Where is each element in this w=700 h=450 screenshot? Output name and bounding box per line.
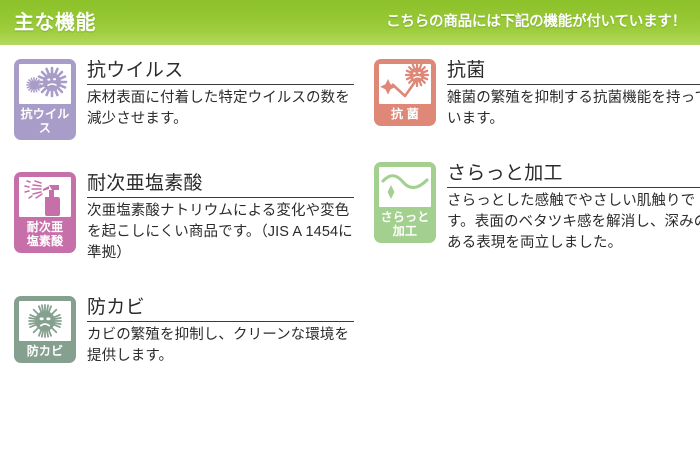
mold-spore-icon	[19, 301, 71, 341]
title-divider	[447, 187, 700, 188]
header-note: こちらの商品には下記の機能が付いています！	[386, 15, 686, 30]
feature-card-smooth-finish: さらっと 加工 さらっと加工 さらっとした感触でやさしい肌触りです。表面のベタツ…	[374, 162, 700, 254]
section-header-bar: 主な機能 こちらの商品には下記の機能が付いています！	[0, 0, 700, 45]
anti-mold-body: カビの繁殖を抑制し、クリーンな環境を提供します。	[87, 325, 354, 367]
antibacterial-body: 雑菌の繁殖を抑制する抗菌機能を持っています。	[447, 88, 700, 130]
title-divider	[87, 197, 354, 198]
features-column-left: 抗ウイルス 抗ウイルス 床材表面に付着した特定ウイルスの数を減少させます。	[14, 45, 354, 367]
feature-card-hypochlorous-acid-resistant: 耐次亜 塩素酸 耐次亜塩素酸 次亜塩素酸ナトリウムによる変化や変色を起こしにくい…	[14, 172, 354, 264]
anti-virus-icon	[19, 64, 71, 104]
anti-virus-icon-label: 抗ウイルス	[19, 104, 71, 136]
hypochlorous-acid-resistant-icon-label: 耐次亜 塩素酸	[27, 217, 64, 249]
smooth-finish-text-block: さらっと加工 さらっとした感触でやさしい肌触りです。表面のベタツキ感を解消し、深…	[436, 162, 700, 254]
smooth-finish-body: さらっとした感触でやさしい肌触りです。表面のベタツキ感を解消し、深みのある表現を…	[447, 191, 700, 254]
anti-virus-body: 床材表面に付着した特定ウイルスの数を減少させます。	[87, 88, 354, 130]
anti-mold-text-block: 防カビ カビの繁殖を抑制し、クリーンな環境を提供します。	[76, 296, 354, 367]
title-divider	[447, 84, 700, 85]
smooth-finish-icon-label: さらっと 加工	[381, 207, 430, 239]
features-column-right: 抗 菌 抗菌 雑菌の繁殖を抑制する抗菌機能を持っています。	[374, 45, 700, 254]
anti-mold-title: 防カビ	[87, 296, 354, 321]
title-divider	[87, 84, 354, 85]
feature-card-anti-virus: 抗ウイルス 抗ウイルス 床材表面に付着した特定ウイルスの数を減少させます。	[14, 59, 354, 140]
antibacterial-icon-block: 抗 菌	[374, 59, 436, 126]
feature-panel: 主な機能 こちらの商品には下記の機能が付いています！	[0, 0, 700, 450]
page-title: 主な機能	[14, 13, 96, 33]
anti-mold-icon-block: 防カビ	[14, 296, 76, 363]
hypochlorous-acid-resistant-body: 次亜塩素酸ナトリウムによる変化や変色を起こしにくい商品です。（JIS A 145…	[87, 201, 354, 264]
antibacterial-icon-label: 抗 菌	[391, 104, 419, 122]
hypochlorous-acid-resistant-title: 耐次亜塩素酸	[87, 172, 354, 197]
feature-card-anti-mold: 防カビ 防カビ カビの繁殖を抑制し、クリーンな環境を提供します。	[14, 296, 354, 367]
hypochlorous-acid-resistant-icon-block: 耐次亜 塩素酸	[14, 172, 76, 253]
features-content: 抗ウイルス 抗ウイルス 床材表面に付着した特定ウイルスの数を減少させます。	[0, 45, 700, 450]
smooth-wave-icon	[379, 167, 431, 207]
title-divider	[87, 321, 354, 322]
spray-bottle-icon	[19, 177, 71, 217]
anti-virus-icon-block: 抗ウイルス	[14, 59, 76, 140]
antibacterial-icon	[379, 64, 431, 104]
antibacterial-title: 抗菌	[447, 59, 700, 84]
anti-virus-title: 抗ウイルス	[87, 59, 354, 84]
anti-mold-icon-label: 防カビ	[27, 341, 64, 359]
smooth-finish-title: さらっと加工	[447, 162, 700, 187]
smooth-finish-icon-block: さらっと 加工	[374, 162, 436, 243]
hypochlorous-acid-resistant-text-block: 耐次亜塩素酸 次亜塩素酸ナトリウムによる変化や変色を起こしにくい商品です。（JI…	[76, 172, 354, 264]
antibacterial-text-block: 抗菌 雑菌の繁殖を抑制する抗菌機能を持っています。	[436, 59, 700, 130]
anti-virus-text-block: 抗ウイルス 床材表面に付着した特定ウイルスの数を減少させます。	[76, 59, 354, 130]
feature-card-antibacterial: 抗 菌 抗菌 雑菌の繁殖を抑制する抗菌機能を持っています。	[374, 59, 700, 130]
